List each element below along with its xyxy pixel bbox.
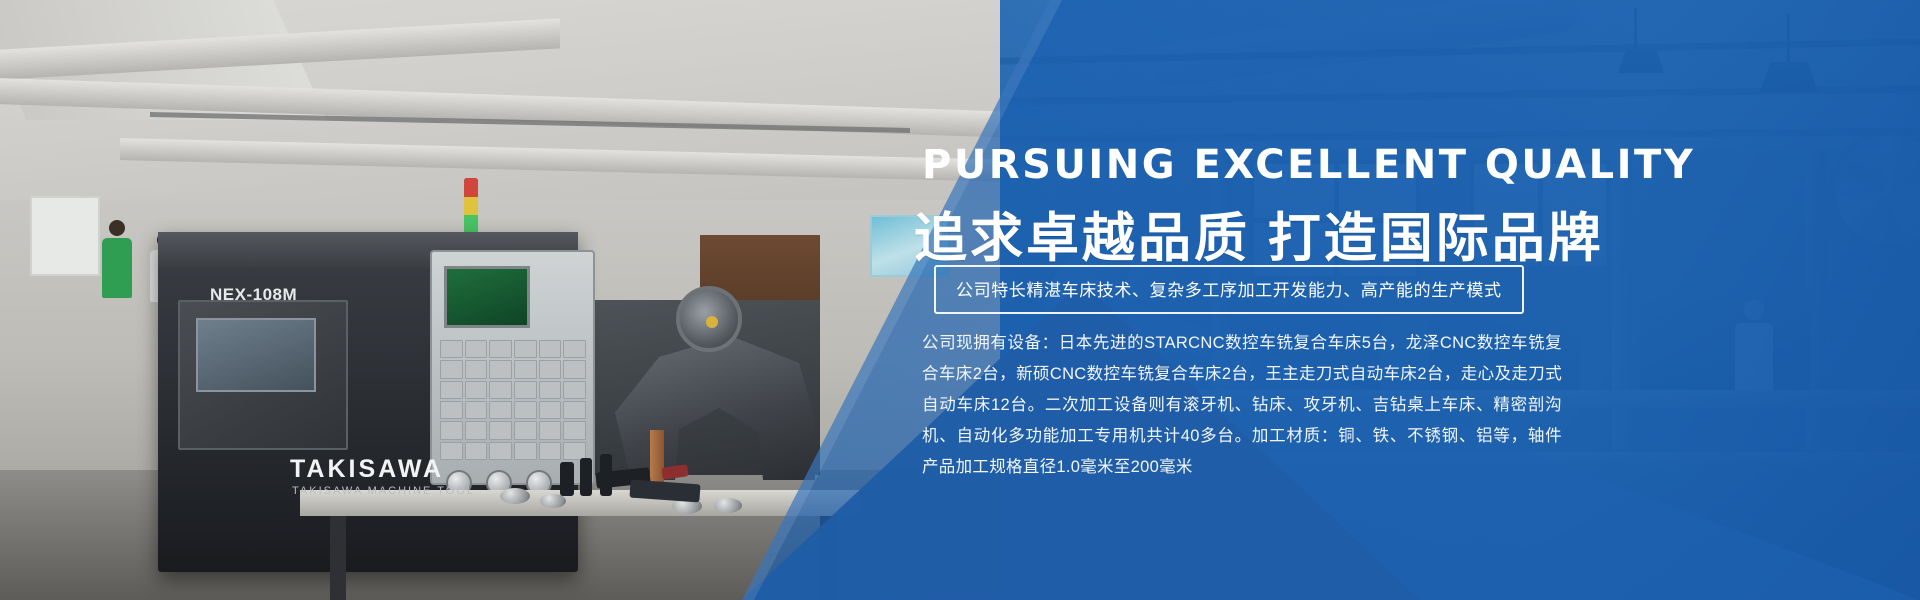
banner-text-block: PURSUING EXCELLENT QUALITY 追求卓越品质 打造国际品牌…	[922, 0, 1802, 600]
machine-brand-sublabel: TAKISAWA MACHINE TOOL	[292, 485, 475, 497]
cnc-keypad	[440, 340, 586, 460]
cutting-tool	[560, 462, 574, 496]
machined-part	[540, 494, 566, 508]
headline-chinese: 追求卓越品质 打造国际品牌	[914, 196, 1604, 272]
body-paragraph: 公司现拥有设备：日本先进的STARCNC数控车铣复合车床5台，龙泽CNC数控车铣…	[922, 328, 1562, 483]
andon-stack-light	[464, 178, 478, 234]
handwheel	[676, 286, 742, 352]
hero-banner: NEX-108M TAKISAWA TAKISAWA MACHINE TOOL	[0, 0, 1920, 600]
cnc-display-screen	[444, 266, 530, 328]
cutting-tool	[580, 458, 592, 496]
machined-part	[714, 498, 742, 513]
wall-notice-board	[30, 196, 100, 276]
headline-english: PURSUING EXCELLENT QUALITY	[922, 142, 1695, 188]
machine-brand-label: TAKISAWA	[290, 455, 444, 484]
machine-model-label: NEX-108M	[210, 285, 297, 305]
worker-figure	[100, 220, 134, 600]
subtitle-badge: 公司特长精湛车床技术、复杂多工序加工开发能力、高产能的生产模式	[934, 265, 1524, 314]
bench-leg	[330, 516, 346, 600]
machined-part	[500, 488, 530, 504]
cnc-lathe-window	[196, 318, 316, 392]
